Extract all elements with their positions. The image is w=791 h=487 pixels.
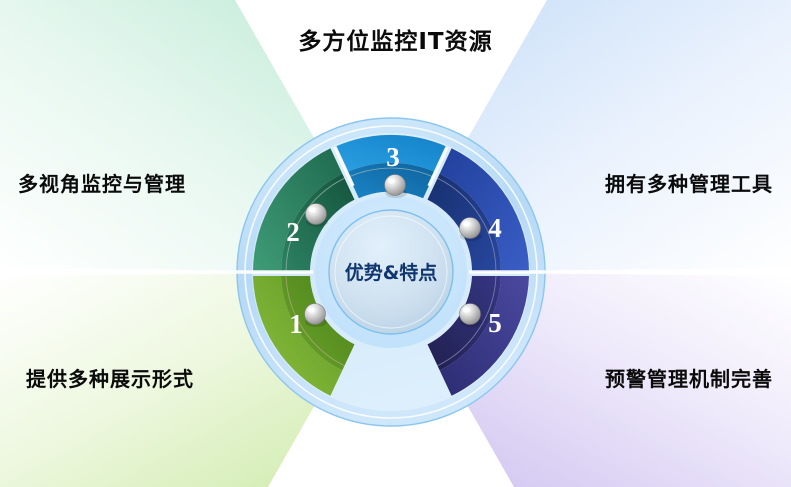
label-right-bottom: 预警管理机制完善	[605, 363, 773, 392]
label-right-top: 拥有多种管理工具	[605, 168, 773, 197]
label-left-bottom: 提供多种展示形式	[26, 363, 194, 392]
segment-3-number: 3	[386, 142, 400, 172]
page-title: 多方位监控IT资源	[0, 22, 791, 56]
segment-5-number: 5	[488, 308, 502, 338]
label-left-top: 多视角监控与管理	[18, 168, 186, 197]
segment-4-number: 4	[488, 213, 502, 243]
center-label: 优势&特点	[345, 261, 438, 284]
segment-1-number: 1	[289, 309, 303, 339]
infographic-canvas: 3 2 1 4 5	[0, 0, 791, 487]
wheel-diagram: 3 2 1 4 5	[0, 0, 791, 487]
segment-2-number: 2	[286, 217, 300, 247]
center-hub[interactable]: 优势&特点	[315, 196, 467, 348]
